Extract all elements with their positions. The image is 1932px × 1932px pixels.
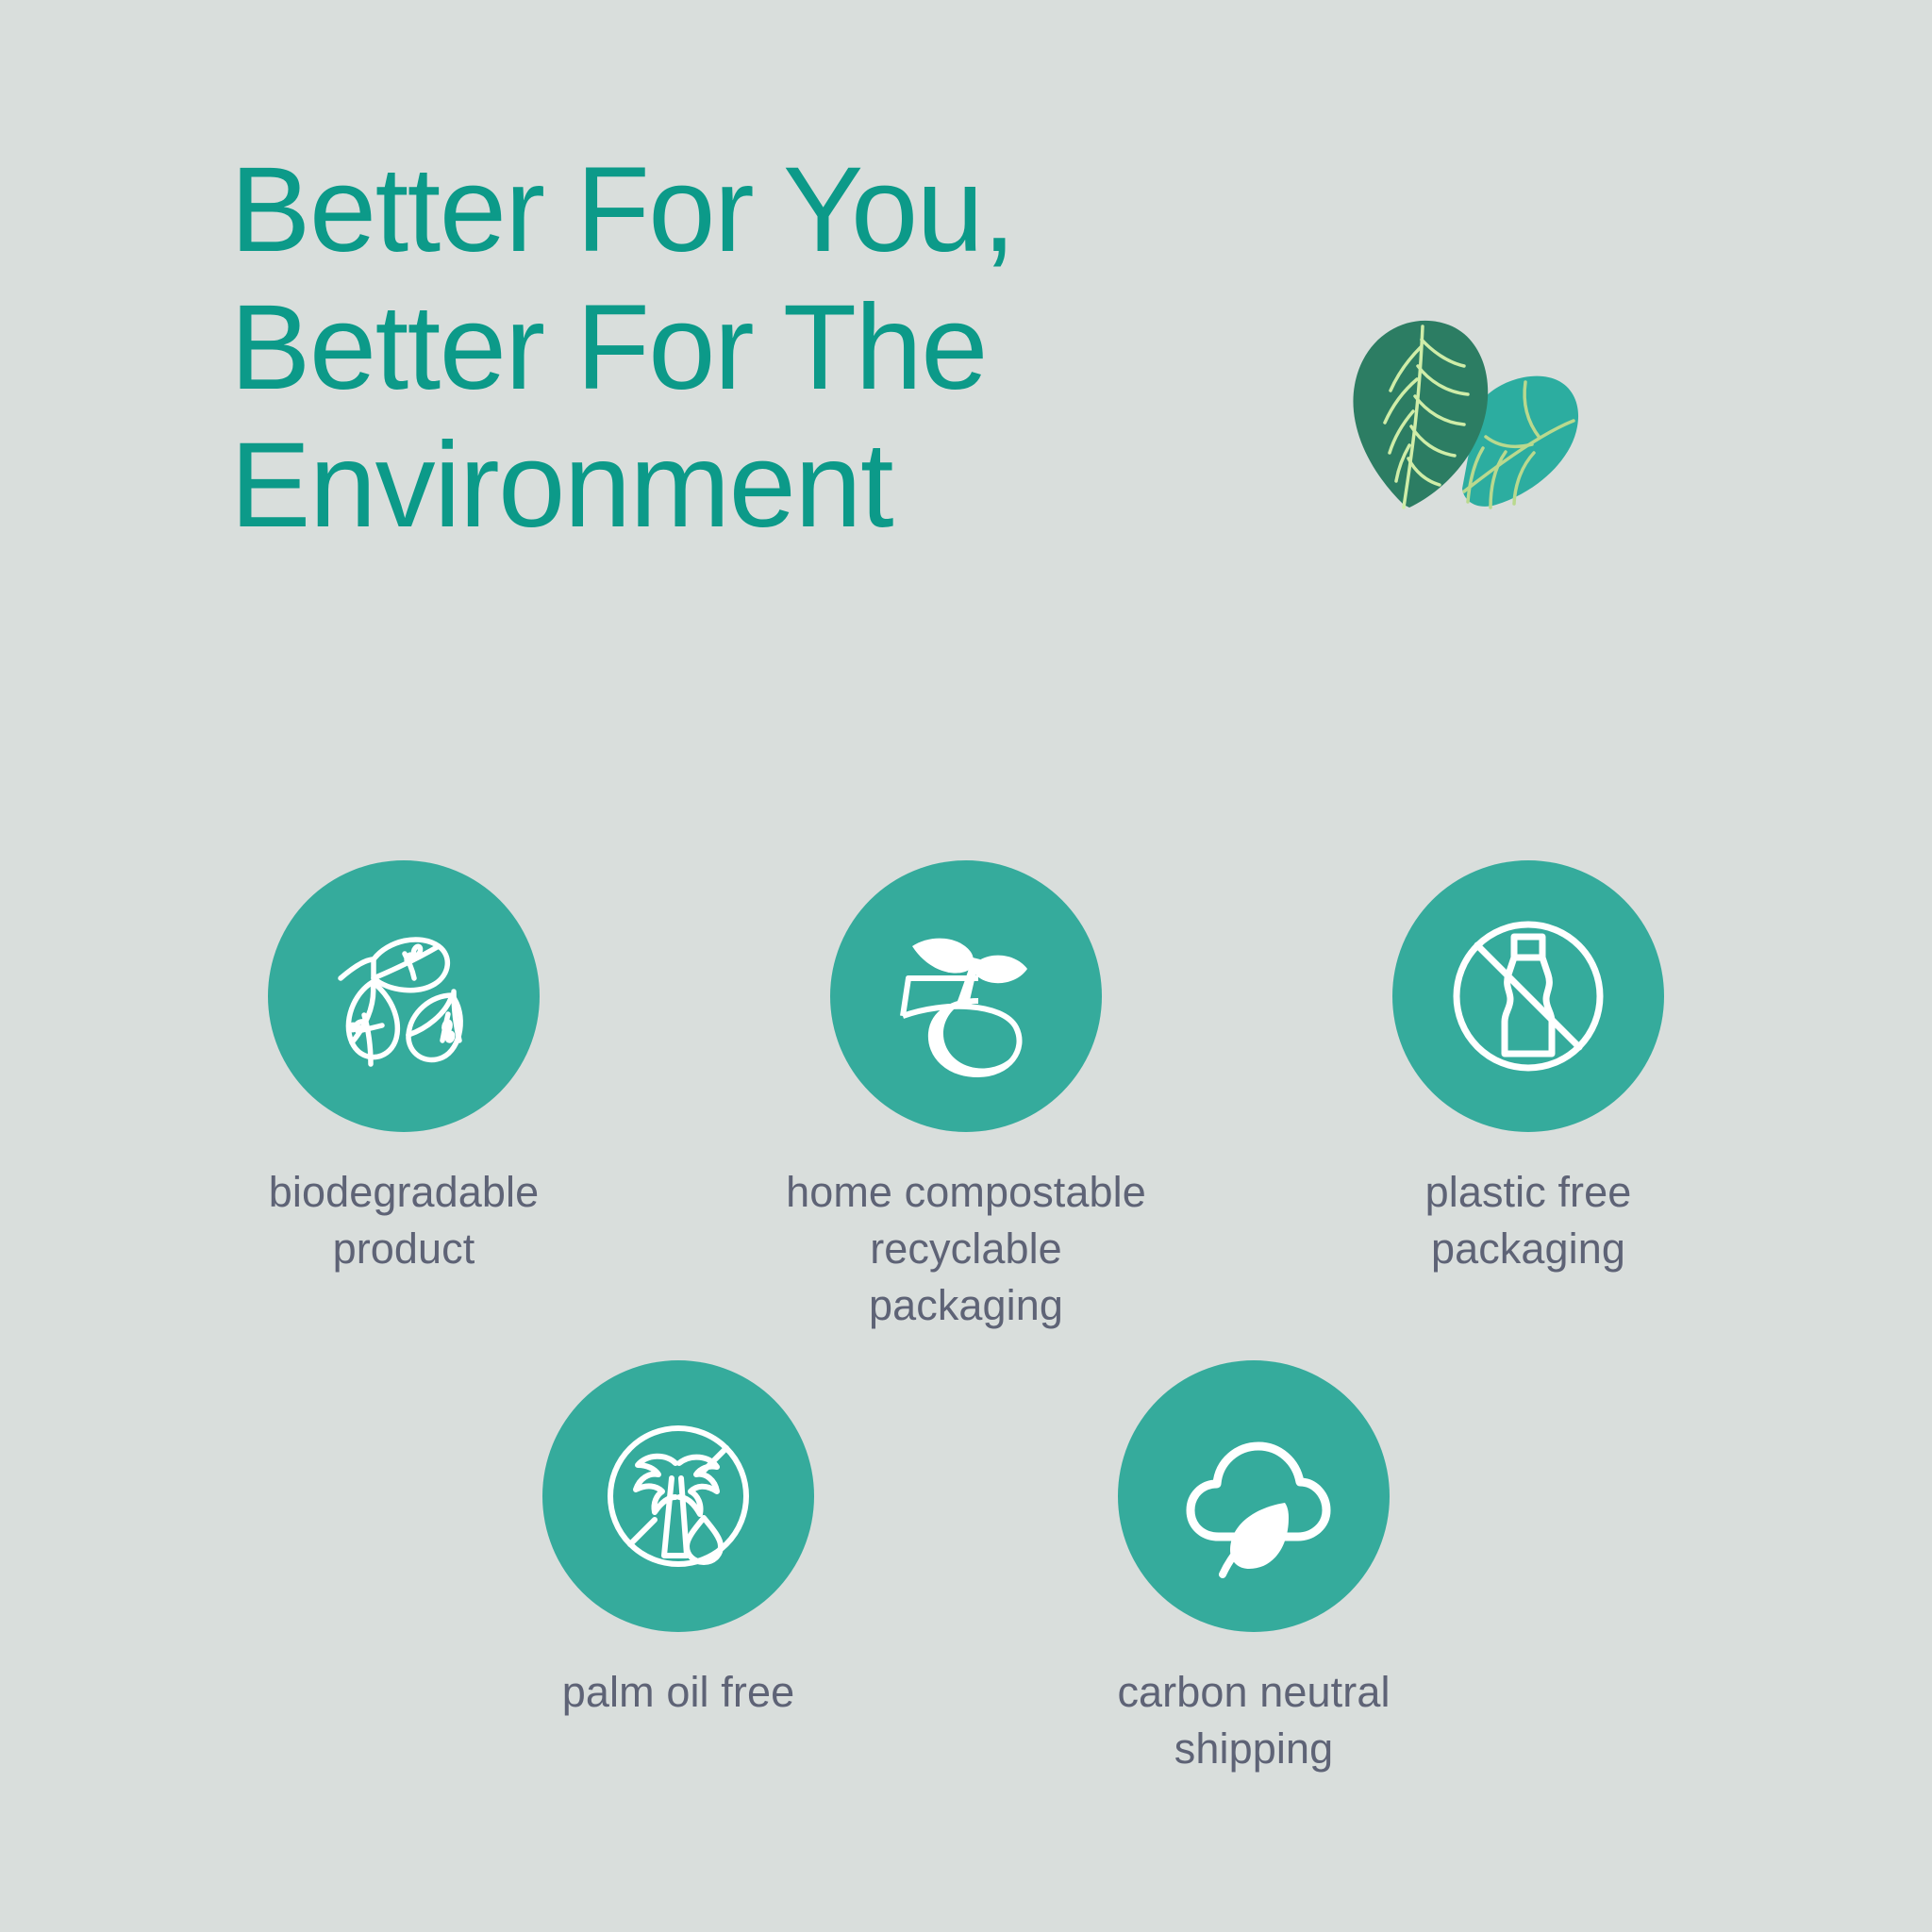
cloud-leaf-carbon-icon	[1164, 1407, 1343, 1586]
badge-row-top: biodegradable product	[0, 860, 1932, 1334]
badge-caption: biodegradable product	[269, 1164, 540, 1277]
sprout-seedling-package-icon	[876, 907, 1056, 1086]
leaf-heart-logo	[1321, 283, 1594, 519]
badge-carbon-neutral-shipping[interactable]: carbon neutral shipping	[1056, 1360, 1452, 1777]
three-leaves-recycle-icon	[314, 907, 493, 1086]
badge-row-bottom: palm oil free carbon neutral shipping	[0, 1360, 1932, 1777]
headline-line-3: Environment	[230, 417, 1174, 555]
no-plastic-bottle-icon	[1439, 907, 1618, 1086]
badge-circle	[542, 1360, 814, 1632]
badge-caption: home compostable recyclable packaging	[768, 1164, 1164, 1334]
headline-line-1: Better For You,	[230, 142, 1174, 279]
badge-circle	[268, 860, 540, 1132]
badge-circle	[830, 860, 1102, 1132]
headline-line-2: Better For The	[230, 279, 1174, 417]
badge-palm-oil-free[interactable]: palm oil free	[480, 1360, 876, 1721]
badge-plastic-free[interactable]: plastic free packaging	[1330, 860, 1726, 1277]
no-palm-oil-icon	[589, 1407, 768, 1586]
badge-caption: carbon neutral shipping	[1117, 1664, 1390, 1777]
badge-biodegradable-product[interactable]: biodegradable product	[206, 860, 602, 1277]
badge-caption: palm oil free	[562, 1664, 794, 1721]
badge-caption: plastic free packaging	[1425, 1164, 1632, 1277]
badge-circle	[1392, 860, 1664, 1132]
badge-circle	[1118, 1360, 1390, 1632]
page-title: Better For You, Better For The Environme…	[230, 142, 1174, 555]
badge-home-compostable[interactable]: home compostable recyclable packaging	[768, 860, 1164, 1334]
